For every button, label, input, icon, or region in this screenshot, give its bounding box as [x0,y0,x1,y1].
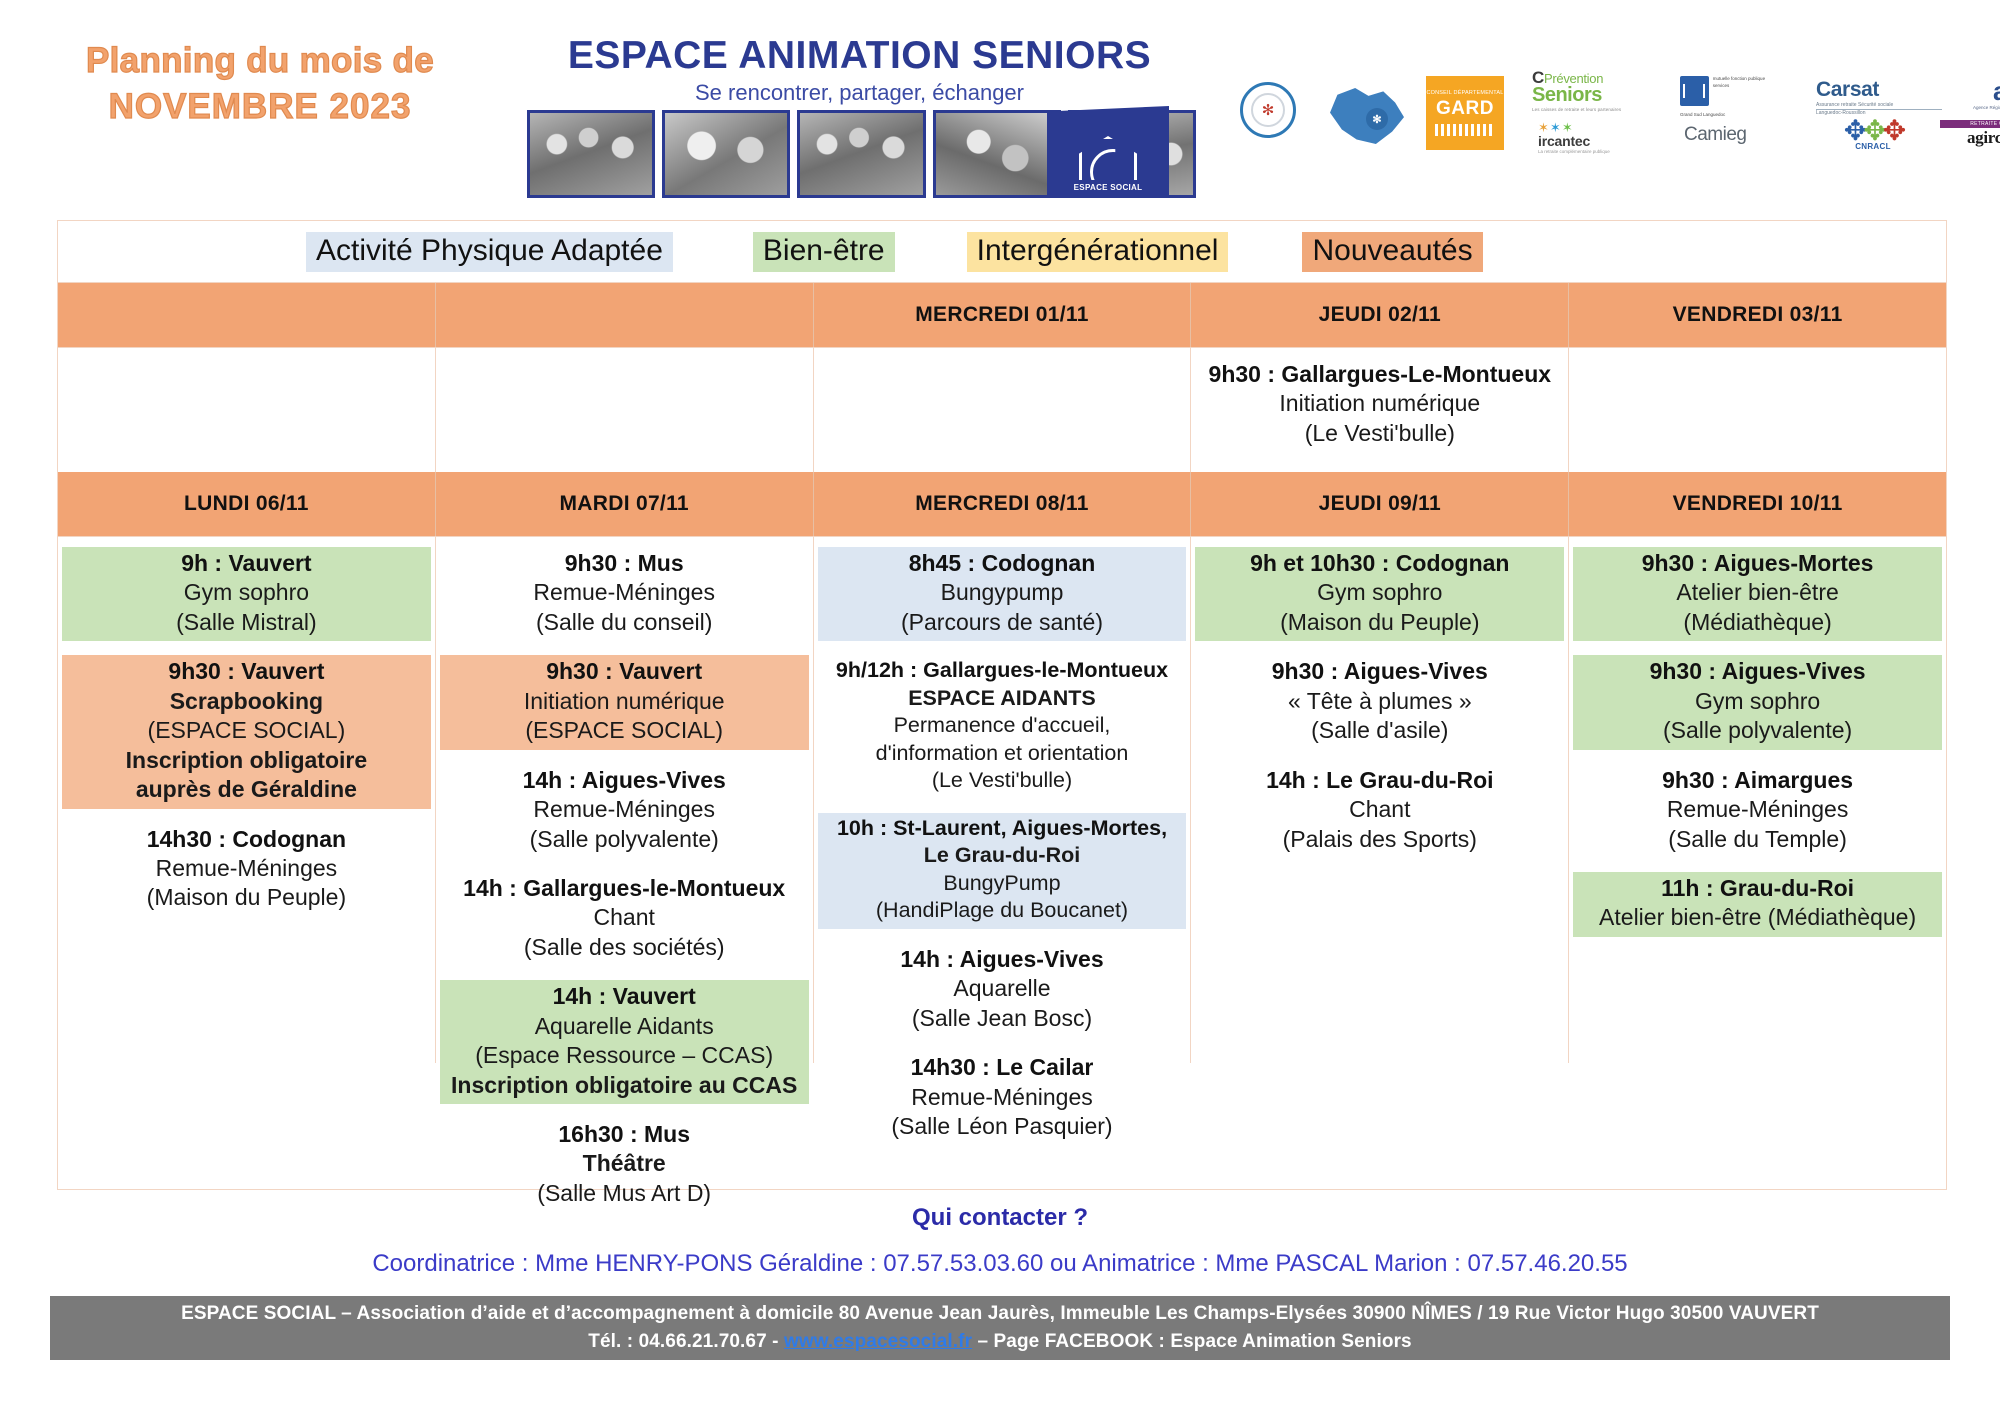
event-title: 14h : Aigues-Vives [820,945,1185,974]
mutuelle-label: mutuelle fonction publique services [1713,76,1780,106]
event-card: 8h45 : CodognanBungypump(Parcours de san… [818,547,1187,641]
event-detail-line: (Maison du Peuple) [64,883,429,912]
gard-logo-name: GARD [1436,98,1494,120]
event-title: 11h : Grau-du-Roi [1575,874,1940,903]
day-header-mercredi-08-11: MERCREDI 08/11 [814,472,1192,536]
day-header-lundi-06-11: LUNDI 06/11 [58,472,436,536]
event-detail-line: d'information et orientation [820,740,1185,768]
event-detail-line: Remue-Méninges [442,795,807,824]
grand-sud-caption: Grand Sud Languedoc [1680,112,1725,117]
planning-poster: Planning du mois de NOVEMBRE 2023 ESPACE… [0,0,2000,1414]
agirc-arrco-logo: RETRAITE COMPLÉMENTAIRE agirc - arrco [1940,120,2000,148]
event-card: 9h30 : VauvertInitiation numérique(ESPAC… [440,655,809,749]
book-icon [1680,76,1709,106]
event-title: 9h30 : Aigues-Vives [1575,657,1940,686]
event-detail-line: Remue-Méninges [442,578,807,607]
grand-sud-languedoc-logo: mutuelle fonction publique services Gran… [1680,76,1780,106]
event-detail-line: Théâtre [442,1149,807,1178]
event-card: 9h30 : Aigues-VivesGym sophro(Salle poly… [1573,655,1942,749]
event-title: 14h30 : Codognan [64,825,429,854]
camieg-logo: Camieg [1684,124,1794,146]
event-detail-line: (Parcours de santé) [820,608,1185,637]
week2-body-row: 9h : VauvertGym sophro(Salle Mistral)9h3… [58,536,1946,1063]
carsat-logo: Carsat Assurance retraite Sécurité socia… [1816,78,1942,116]
event-detail-line: « Tête à plumes » [1197,687,1562,716]
event-title: 14h : Vauvert [442,982,807,1011]
legend-item-intergenerationnel: Intergénérationnel [967,232,1229,272]
month-title-line2: NOVEMBRE 2023 [50,84,470,130]
legend-item-bien-etre: Bien-être [753,232,895,272]
ircantec-tagline: La retraite complémentaire publique [1538,149,1656,154]
event-title: 8h45 : Codognan [820,549,1185,578]
logo-name: ESPACE SOCIAL [1074,183,1143,192]
month-title-line1: Planning du mois de [50,38,470,84]
week1-header-row: MERCREDI 01/11 JEUDI 02/11 VENDREDI 03/1… [58,283,1946,347]
footer-contact-line: Tél. : 04.66.21.70.67 - www.espacesocial… [588,1328,1411,1357]
event-title: 9h30 : Gallargues-Le-Montueux [1197,360,1562,389]
event-card: 14h30 : Le CailarRemue-Méninges(Salle Lé… [818,1051,1187,1145]
day-header-mercredi-01-11: MERCREDI 01/11 [814,283,1192,347]
event-card: 9h/12h : Gallargues-le-MontueuxESPACE AI… [818,655,1187,799]
day-header-vendredi-03-11: VENDREDI 03/11 [1569,283,1946,347]
event-title: 9h30 : Aigues-Vives [1197,657,1562,686]
day-cell: 9h et 10h30 : CodognanGym sophro(Maison … [1191,537,1569,1063]
ars-logo: ars Agence Régionale de Santé Occitanie [1956,76,2000,110]
legend-item-apa: Activité Physique Adaptée [306,232,673,272]
day-cell: 9h : VauvertGym sophro(Salle Mistral)9h3… [58,537,436,1063]
event-detail-line: Bungypump [820,578,1185,607]
event-card: 14h : Gallargues-le-MontueuxChant(Salle … [440,872,809,966]
contact-title: Qui contacter ? [0,1204,2000,1232]
event-detail-line: Aquarelle Aidants [442,1012,807,1041]
day-header-mardi-07-11: MARDI 07/11 [436,472,814,536]
footer-address-line: ESPACE SOCIAL – Association d’aide et d’… [181,1300,1819,1329]
photo-seniors-group [662,110,790,198]
photo-seniors-activity [933,110,1061,198]
photo-seniors-portrait [797,110,925,198]
espace-social-logo: ESPACE SOCIAL [1047,106,1169,198]
event-card: 9h30 : VauvertScrapbooking(ESPACE SOCIAL… [62,655,431,808]
planning-table: Activité Physique Adaptée Bien-être Inte… [57,220,1947,1190]
day-cell [1569,348,1946,472]
event-detail-line: Chant [442,903,807,932]
event-detail-line: auprès de Géraldine [64,775,429,804]
event-title: 14h : Aigues-Vives [442,766,807,795]
legend-item-nouveautes: Nouveautés [1302,232,1482,272]
conference-des-financeurs-logo: ✻ [1240,82,1296,138]
day-cell [58,348,436,472]
event-title: 9h/12h : Gallargues-le-Montueux [820,657,1185,685]
event-card: 14h : VauvertAquarelle Aidants(Espace Re… [440,980,809,1104]
event-title: 9h30 : Vauvert [64,657,429,686]
event-title: 9h : Vauvert [64,549,429,578]
ircantec-name: ircantec [1538,133,1656,149]
event-detail-line: (Maison du Peuple) [1197,608,1562,637]
event-detail-line: (HandiPlage du Boucanet) [820,897,1185,925]
banner-subtitle: Se rencontrer, partager, échanger [523,80,1196,106]
event-detail-line: Atelier bien-être [1575,578,1940,607]
cap-tagline: Les caisses de retraite et leurs partena… [1532,107,1662,112]
event-title: 9h30 : Vauvert [442,657,807,686]
event-detail-line: Initiation numérique [442,687,807,716]
event-title: 9h30 : Mus [442,549,807,578]
carsat-name: Carsat [1816,78,1942,102]
event-detail-line: Le Grau-du-Roi [820,842,1185,870]
event-detail-line: Scrapbooking [64,687,429,716]
partner-logos: ✻ ✻ CONSEIL DÉPARTEMENTAL GARD CPréventi… [1240,58,1980,158]
footer-phone: Tél. : 04.66.21.70.67 - [588,1331,784,1352]
ars-tagline: Agence Régionale de Santé Occitanie [1956,105,2000,110]
event-card: 9h30 : AimarguesRemue-Méninges(Salle du … [1573,764,1942,858]
ars-name: ars [1956,76,2000,107]
event-detail-line: (Salle du Temple) [1575,825,1940,854]
event-detail-line: (Salle Mistral) [64,608,429,637]
cap-prevention-seniors-logo: CPrévention Seniors Les caisses de retra… [1532,68,1662,112]
agirc-band-label: RETRAITE COMPLÉMENTAIRE [1940,120,2000,128]
event-detail-line: BungyPump [820,870,1185,898]
day-cell: 9h30 : MusRemue-Méninges(Salle du consei… [436,537,814,1063]
day-cell: 8h45 : CodognanBungypump(Parcours de san… [814,537,1192,1063]
event-detail-line: (Palais des Sports) [1197,825,1562,854]
event-detail-line: (ESPACE SOCIAL) [442,716,807,745]
carsat-tagline: Assurance retraite Sécurité sociale [1816,102,1942,108]
contact-line: Coordinatrice : Mme HENRY-PONS Géraldine… [0,1250,2000,1278]
ircantec-logo: ✶✶✶ ircantec La retraite complémentaire … [1538,120,1656,154]
event-detail-line: (Médiathèque) [1575,608,1940,637]
legend-row: Activité Physique Adaptée Bien-être Inte… [58,221,1946,283]
day-header-jeudi-09-11: JEUDI 09/11 [1191,472,1569,536]
week2-header-row: LUNDI 06/11 MARDI 07/11 MERCREDI 08/11 J… [58,472,1946,536]
event-card: 14h30 : CodognanRemue-Méninges(Maison du… [62,823,431,917]
day-header-empty-1 [58,283,436,347]
event-card: 14h : Aigues-VivesRemue-Méninges(Salle p… [440,764,809,858]
event-card: 10h : St-Laurent, Aigues-Mortes,Le Grau-… [818,813,1187,929]
day-cell [436,348,814,472]
event-detail-line: (Salle polyvalente) [442,825,807,854]
event-card: 9h30 : Aigues-MortesAtelier bien-être(Mé… [1573,547,1942,641]
photo-placeholder [527,110,655,198]
poster-header: Planning du mois de NOVEMBRE 2023 ESPACE… [0,0,2000,190]
event-detail-line: (Salle d'asile) [1197,716,1562,745]
event-detail-line: Permanence d'accueil, [820,712,1185,740]
event-detail-line: Gym sophro [64,578,429,607]
day-cell: 9h30 : Aigues-MortesAtelier bien-être(Mé… [1569,537,1946,1063]
banner-title: ESPACE ANIMATION SENIORS [523,34,1196,78]
camieg-name: Camieg [1684,124,1794,146]
event-detail-line: Inscription obligatoire [64,746,429,775]
gard-departement-map-logo: ✻ [1330,88,1404,144]
event-card: 9h30 : Aigues-Vives« Tête à plumes »(Sal… [1195,655,1564,749]
event-card: 9h30 : Gallargues-Le-MontueuxInitiation … [1195,358,1564,452]
event-detail-line: Remue-Méninges [820,1083,1185,1112]
event-card: 14h : Le Grau-du-RoiChant(Palais des Spo… [1195,764,1564,858]
event-detail-line: (Le Vesti'bulle) [1197,419,1562,448]
cap-seniors-label: Seniors [1532,84,1662,107]
event-detail-line: Aquarelle [820,974,1185,1003]
agirc-name: agirc - arrco [1940,128,2000,148]
event-title: 14h30 : Le Cailar [820,1053,1185,1082]
event-detail-line: (Le Vesti'bulle) [820,767,1185,795]
event-detail-line: Remue-Méninges [64,854,429,883]
gard-logo-caption: CONSEIL DÉPARTEMENTAL [1426,90,1503,97]
event-detail-line: (Salle polyvalente) [1575,716,1940,745]
event-card: 11h : Grau-du-RoiAtelier bien-être (Médi… [1573,872,1942,937]
footer-facebook: – Page FACEBOOK : Espace Animation Senio… [972,1331,1412,1352]
event-title: 14h : Gallargues-le-Montueux [442,874,807,903]
event-detail-line: (Salle des sociétés) [442,933,807,962]
event-detail-line: Atelier bien-être (Médiathèque) [1575,903,1940,932]
event-detail-line: Chant [1197,795,1562,824]
cnracl-logo: ✥✥✥ CNRACL [1828,120,1918,151]
event-detail-line: Remue-Méninges [1575,795,1940,824]
month-title: Planning du mois de NOVEMBRE 2023 [50,38,470,130]
event-detail-line: Gym sophro [1575,687,1940,716]
day-header-vendredi-10-11: VENDREDI 10/11 [1569,472,1946,536]
event-detail-line: ESPACE AIDANTS [820,685,1185,713]
day-cell [814,348,1192,472]
event-title: 10h : St-Laurent, Aigues-Mortes, [820,815,1185,843]
event-card: 9h et 10h30 : CodognanGym sophro(Maison … [1195,547,1564,641]
event-detail-line: Inscription obligatoire au CCAS [442,1071,807,1100]
footer-address-bar: ESPACE SOCIAL – Association d’aide et d’… [50,1296,1950,1360]
day-header-jeudi-02-11: JEUDI 02/11 [1191,283,1569,347]
people-icon: ✻ [1251,93,1285,127]
gard-logo: CONSEIL DÉPARTEMENTAL GARD [1426,76,1504,150]
house-icon [1079,136,1137,180]
gard-logo-bar [1435,124,1495,136]
espace-animation-seniors-banner: ESPACE ANIMATION SENIORS Se rencontrer, … [523,28,1196,143]
day-header-empty-2 [436,283,814,347]
event-detail-line: (Salle Léon Pasquier) [820,1112,1185,1141]
event-detail-line: (ESPACE SOCIAL) [64,716,429,745]
event-card: 14h : Aigues-VivesAquarelle(Salle Jean B… [818,943,1187,1037]
week1-body-row: 9h30 : Gallargues-Le-MontueuxInitiation … [58,347,1946,472]
event-detail-line: Initiation numérique [1197,389,1562,418]
event-card: 16h30 : MusThéâtre(Salle Mus Art D) [440,1118,809,1212]
event-title: 9h et 10h30 : Codognan [1197,549,1562,578]
event-title: 14h : Le Grau-du-Roi [1197,766,1562,795]
people-icon: ✻ [1366,108,1388,130]
event-card: 9h : VauvertGym sophro(Salle Mistral) [62,547,431,641]
event-detail-line: (Espace Ressource – CCAS) [442,1041,807,1070]
people-icon: ✥✥✥ [1828,120,1918,142]
event-detail-line: (Salle du conseil) [442,608,807,637]
event-title: 9h30 : Aigues-Mortes [1575,549,1940,578]
cnracl-name: CNRACL [1828,142,1918,151]
day-cell: 9h30 : Gallargues-Le-MontueuxInitiation … [1191,348,1569,472]
event-title: 16h30 : Mus [442,1120,807,1149]
event-card: 9h30 : MusRemue-Méninges(Salle du consei… [440,547,809,641]
event-detail-line: (Salle Jean Bosc) [820,1004,1185,1033]
event-detail-line: Gym sophro [1197,578,1562,607]
event-title: 9h30 : Aimargues [1575,766,1940,795]
website-link[interactable]: www.espacesocial.fr [784,1331,972,1352]
